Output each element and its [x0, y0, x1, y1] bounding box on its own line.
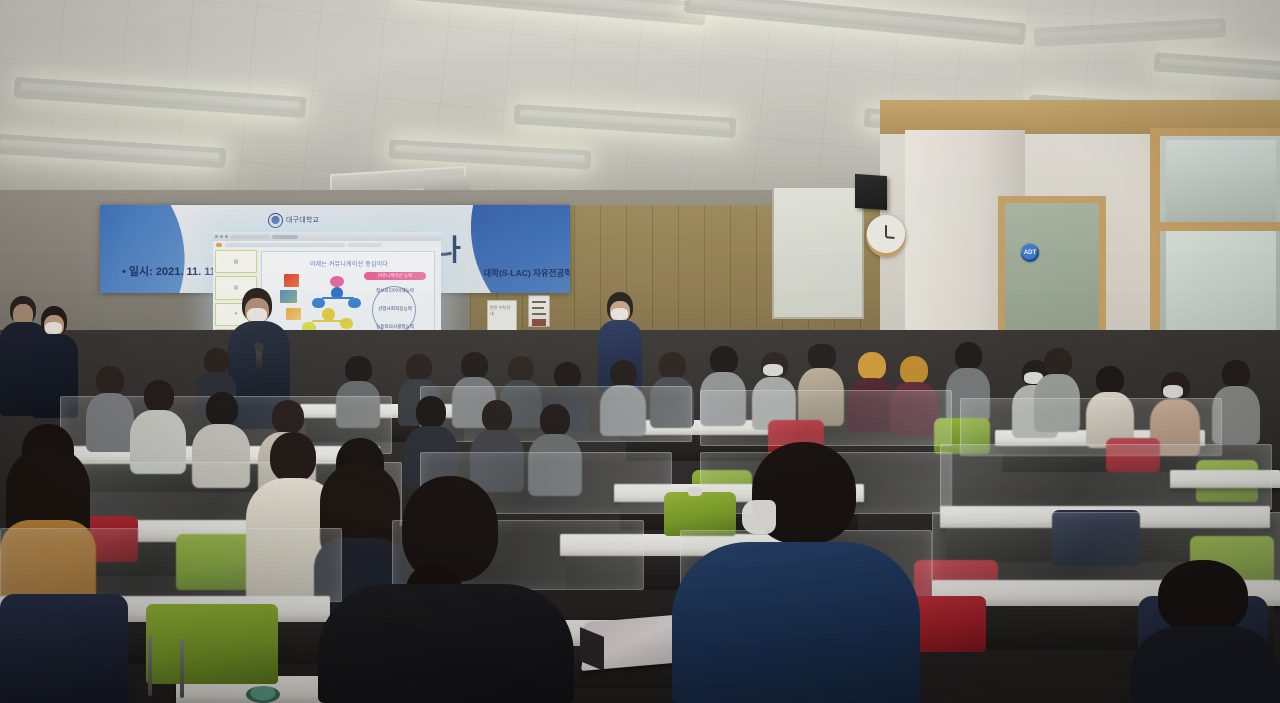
audience-member	[130, 380, 186, 474]
browser-tab	[230, 235, 270, 239]
acrylic-divider	[0, 528, 342, 602]
whiteboard	[772, 186, 864, 319]
slide-thumbnail[interactable]: ▤	[215, 250, 257, 273]
slide-title: 이제는 커뮤니케이션 중심이다	[262, 259, 435, 268]
browser-dot-icon	[225, 235, 228, 238]
chair-leg	[148, 636, 152, 696]
ceiling-speaker-icon	[855, 174, 887, 210]
browser-dot-icon	[215, 235, 218, 238]
lecture-hall-photo: ADT 안전 수칙 안내 대구대학교 2021학년도 세미나 • 일시: 202…	[0, 0, 1280, 703]
ceiling-light-8	[1160, 58, 1280, 76]
chair[interactable]	[0, 594, 128, 703]
slide-badge: 커뮤니케이션 능력	[364, 272, 426, 280]
chair-leg	[180, 640, 184, 698]
acrylic-divider	[700, 390, 952, 446]
adt-security-sticker-icon: ADT	[1021, 244, 1039, 262]
slide-node-blue-right	[348, 298, 361, 308]
slide-node-blue-left	[312, 298, 325, 308]
wall-clock-icon	[866, 215, 906, 257]
cup-on-desk[interactable]	[246, 686, 280, 703]
browser-chrome	[213, 232, 441, 241]
slide-node-pink	[330, 276, 344, 287]
acrylic-divider	[940, 444, 1272, 510]
url-extra	[348, 243, 382, 247]
audience-member-foreground-right	[672, 442, 920, 703]
university-logo-text: 대구대학교	[286, 215, 319, 225]
audience-member-foreground-far-right	[1130, 560, 1280, 703]
university-emblem-icon	[268, 213, 283, 228]
favicon-icon	[216, 243, 222, 247]
chair[interactable]	[146, 604, 278, 684]
microphone-icon	[256, 348, 262, 374]
url-text	[225, 243, 345, 247]
slide-image-red	[284, 274, 299, 287]
browser-address-bar	[213, 241, 441, 248]
wall-poster	[528, 295, 550, 327]
slide-bullet: 정보미디어이해능력	[364, 288, 426, 294]
browser-dot-icon	[220, 235, 223, 238]
audience-member-foreground-left	[318, 476, 574, 703]
browser-tab	[272, 235, 298, 239]
slide-bullet: 산업사회적응능력	[364, 306, 426, 312]
